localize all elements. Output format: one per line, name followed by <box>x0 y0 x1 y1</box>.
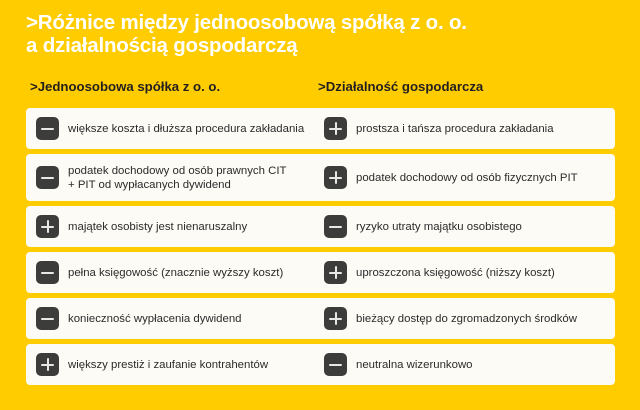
comparison-cell-left: większy prestiż i zaufanie kontrahentów <box>26 353 320 376</box>
comparison-cell-text: majątek osobisty jest nienaruszalny <box>68 220 247 234</box>
comparison-cell-left: konieczność wypłacenia dywidend <box>26 307 320 330</box>
comparison-cell-left: pełna księgowość (znacznie wyższy koszt) <box>26 261 320 284</box>
table-row: majątek osobisty jest nienaruszalnyryzyk… <box>26 206 615 247</box>
badge-bar-vertical <box>335 312 337 325</box>
comparison-rows: większe koszta i dłuższa procedura zakła… <box>26 108 615 390</box>
comparison-cell-text-line-1: neutralna wizerunkowo <box>356 359 473 371</box>
comparison-cell-right: ryzyko utraty majątku osobistego <box>320 215 615 238</box>
minus-badge-icon <box>324 215 347 238</box>
comparison-cell-text-line-1: ryzyko utraty majątku osobistego <box>356 221 522 233</box>
comparison-cell-right: podatek dochodowy od osób fizycznych PIT <box>320 166 615 189</box>
badge-bar-vertical <box>335 122 337 135</box>
comparison-cell-right: uproszczona księgowość (niższy koszt) <box>320 261 615 284</box>
plus-badge-icon <box>324 117 347 140</box>
comparison-cell-right: prostsza i tańsza procedura zakładania <box>320 117 615 140</box>
table-row: podatek dochodowy od osób prawnych CIT+ … <box>26 154 615 201</box>
comparison-cell-text-line-1: większy prestiż i zaufanie kontrahentów <box>68 359 268 371</box>
badge-bar-horizontal <box>41 128 54 130</box>
comparison-cell-text-line-1: większe koszta i dłuższa procedura zakła… <box>68 123 304 135</box>
comparison-cell-text-line-1: konieczność wypłacenia dywidend <box>68 313 242 325</box>
plus-badge-icon <box>324 166 347 189</box>
badge-bar-vertical <box>335 171 337 184</box>
badge-bar-horizontal <box>41 318 54 320</box>
table-row: pełna księgowość (znacznie wyższy koszt)… <box>26 252 615 293</box>
column-headers: >Jednoosobowa spółka z o. o. >Działalnoś… <box>30 78 616 96</box>
page-title-line-1: >Różnice między jednoosobową spółką z o.… <box>26 11 616 34</box>
table-row: konieczność wypłacenia dywidendbieżący d… <box>26 298 615 339</box>
page-title-line-2: a działalnością gospodarczą <box>26 34 616 57</box>
comparison-cell-text: podatek dochodowy od osób fizycznych PIT <box>356 171 578 185</box>
plus-badge-icon <box>36 215 59 238</box>
comparison-cell-text: podatek dochodowy od osób prawnych CIT+ … <box>68 164 286 192</box>
comparison-cell-text: konieczność wypłacenia dywidend <box>68 312 242 326</box>
minus-badge-icon <box>36 166 59 189</box>
badge-bar-horizontal <box>41 177 54 179</box>
column-header-right: >Działalność gospodarcza <box>318 78 483 96</box>
comparison-cell-text: większe koszta i dłuższa procedura zakła… <box>68 122 304 136</box>
comparison-cell-text-line-1: uproszczona księgowość (niższy koszt) <box>356 267 555 279</box>
plus-badge-icon <box>36 353 59 376</box>
comparison-cell-text: bieżący dostęp do zgromadzonych środków <box>356 312 577 326</box>
comparison-cell-text: neutralna wizerunkowo <box>356 358 473 372</box>
comparison-cell-text-line-1: pełna księgowość (znacznie wyższy koszt) <box>68 267 283 279</box>
table-row: większe koszta i dłuższa procedura zakła… <box>26 108 615 149</box>
minus-badge-icon <box>36 261 59 284</box>
comparison-cell-text-line-2: + PIT od wypłacanych dywidend <box>68 178 286 192</box>
comparison-infographic: >Różnice między jednoosobową spółką z o.… <box>0 0 640 410</box>
comparison-cell-left: podatek dochodowy od osób prawnych CIT+ … <box>26 164 320 192</box>
comparison-cell-text-line-1: prostsza i tańsza procedura zakładania <box>356 123 554 135</box>
comparison-cell-text-line-1: majątek osobisty jest nienaruszalny <box>68 221 247 233</box>
plus-badge-icon <box>324 307 347 330</box>
page-title: >Różnice między jednoosobową spółką z o.… <box>26 11 616 57</box>
table-row: większy prestiż i zaufanie kontrahentówn… <box>26 344 615 385</box>
minus-badge-icon <box>324 353 347 376</box>
badge-bar-vertical <box>47 358 49 371</box>
plus-badge-icon <box>324 261 347 284</box>
badge-bar-horizontal <box>329 226 342 228</box>
comparison-cell-text-line-1: podatek dochodowy od osób prawnych CIT <box>68 165 286 177</box>
comparison-cell-text: prostsza i tańsza procedura zakładania <box>356 122 554 136</box>
badge-bar-vertical <box>335 266 337 279</box>
comparison-cell-text: większy prestiż i zaufanie kontrahentów <box>68 358 268 372</box>
comparison-cell-text: pełna księgowość (znacznie wyższy koszt) <box>68 266 283 280</box>
minus-badge-icon <box>36 117 59 140</box>
comparison-cell-right: neutralna wizerunkowo <box>320 353 615 376</box>
column-header-left: >Jednoosobowa spółka z o. o. <box>30 78 220 96</box>
comparison-cell-left: majątek osobisty jest nienaruszalny <box>26 215 320 238</box>
badge-bar-horizontal <box>41 272 54 274</box>
comparison-cell-text: ryzyko utraty majątku osobistego <box>356 220 522 234</box>
badge-bar-vertical <box>47 220 49 233</box>
comparison-cell-left: większe koszta i dłuższa procedura zakła… <box>26 117 320 140</box>
comparison-cell-text: uproszczona księgowość (niższy koszt) <box>356 266 555 280</box>
comparison-cell-right: bieżący dostęp do zgromadzonych środków <box>320 307 615 330</box>
badge-bar-horizontal <box>329 364 342 366</box>
comparison-cell-text-line-1: bieżący dostęp do zgromadzonych środków <box>356 313 577 325</box>
minus-badge-icon <box>36 307 59 330</box>
comparison-cell-text-line-1: podatek dochodowy od osób fizycznych PIT <box>356 172 578 184</box>
